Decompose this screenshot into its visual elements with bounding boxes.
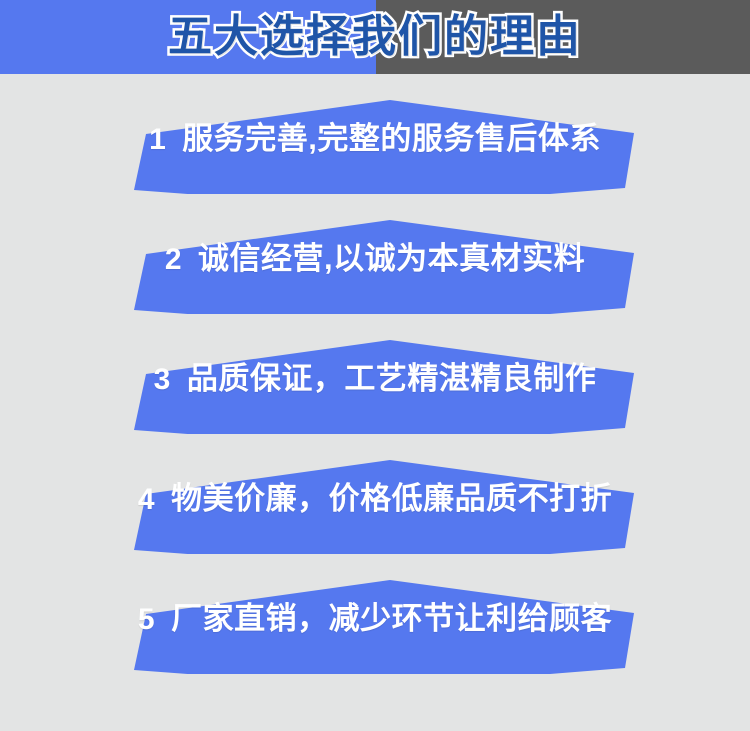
reason-banner-1[interactable]: 1服务完善,完整的服务售后体系 (0, 74, 750, 194)
hexagon-shape-icon (0, 194, 750, 314)
reasons-list: 1服务完善,完整的服务售后体系 2诚信经营,以诚为本真材实料 3品质保证，工艺精… (0, 74, 750, 731)
page-title: 五大选择我们的理由 (0, 0, 750, 74)
hexagon-shape-icon (0, 434, 750, 554)
reason-banner-4[interactable]: 4物美价廉，价格低廉品质不打折 (0, 434, 750, 554)
page-header: 五大选择我们的理由 (0, 0, 750, 74)
hexagon-shape-icon (0, 554, 750, 674)
reason-banner-3[interactable]: 3品质保证，工艺精湛精良制作 (0, 314, 750, 434)
hexagon-shape-icon (0, 314, 750, 434)
reason-banner-2[interactable]: 2诚信经营,以诚为本真材实料 (0, 194, 750, 314)
reason-banner-5[interactable]: 5厂家直销，减少环节让利给顾客 (0, 554, 750, 674)
hexagon-shape-icon (0, 74, 750, 194)
